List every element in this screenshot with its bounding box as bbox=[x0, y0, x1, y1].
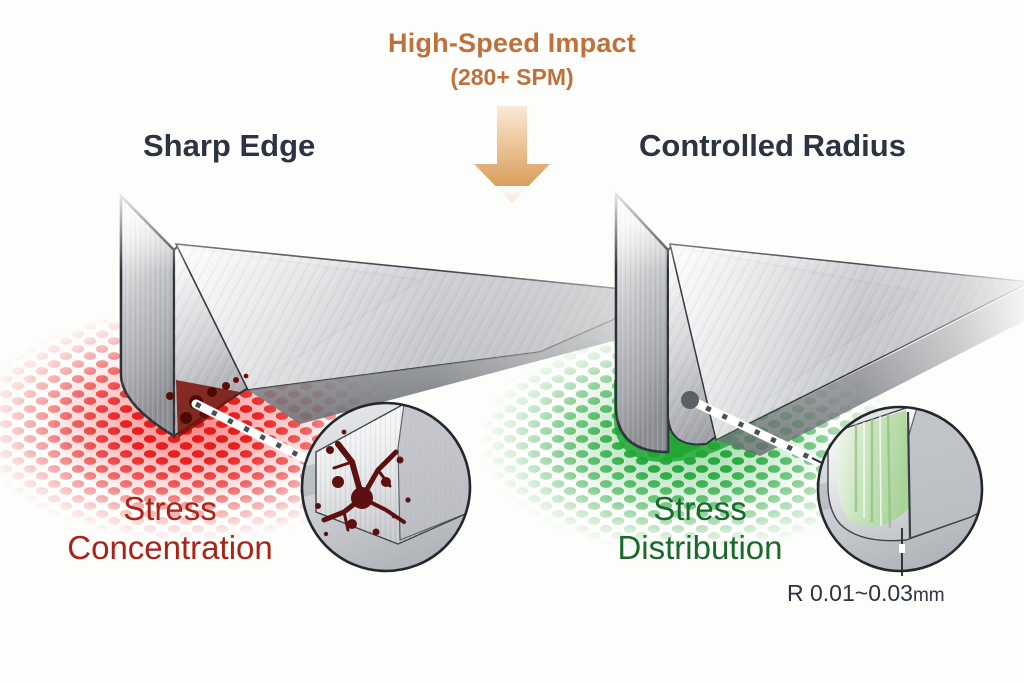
radius-value: R 0.01~0.03 bbox=[787, 580, 913, 606]
caption-left-line1: Stress bbox=[123, 490, 217, 527]
caption-left-line2: Concentration bbox=[0, 529, 340, 568]
caption-left: Stress Concentration bbox=[0, 490, 340, 568]
radius-annotation: R 0.01~0.03mm bbox=[787, 580, 945, 607]
caption-right: Stress Distribution bbox=[540, 490, 860, 568]
controlled-radius-blade bbox=[596, 184, 1024, 462]
figure-canvas: High-Speed Impact (280+ SPM) Sharp Edge … bbox=[0, 0, 1024, 683]
radius-unit: mm bbox=[913, 585, 945, 606]
caption-right-line1: Stress bbox=[653, 490, 747, 527]
caption-right-line2: Distribution bbox=[540, 529, 860, 568]
